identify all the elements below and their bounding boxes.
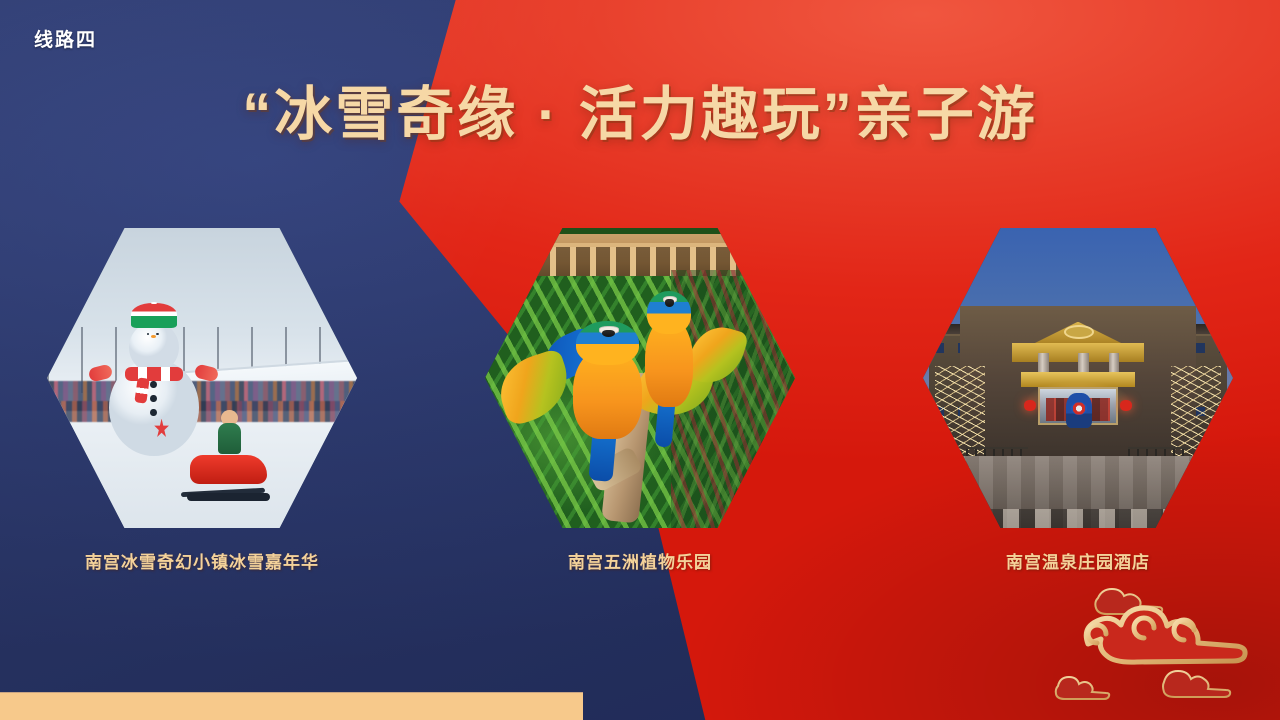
inflatable-snowman bbox=[109, 300, 199, 456]
snowman-eye bbox=[156, 333, 159, 335]
attraction-caption: 南宫冰雪奇幻小镇冰雪嘉年华 bbox=[85, 548, 319, 573]
snowmobile-body bbox=[190, 455, 267, 484]
paved-plaza bbox=[923, 456, 1233, 528]
attraction-card[interactable]: 南宫温泉庄园酒店 bbox=[923, 228, 1233, 573]
snowmobile bbox=[187, 438, 271, 504]
attraction-caption: 南宫温泉庄园酒店 bbox=[1006, 548, 1150, 573]
macaw-beak bbox=[602, 330, 614, 338]
bottom-accent-bar bbox=[0, 692, 583, 720]
hotel-main-block bbox=[960, 306, 1196, 462]
attraction-caption: 南宫五洲植物乐园 bbox=[568, 548, 712, 573]
macaw-right bbox=[615, 288, 720, 423]
snowman-hat bbox=[131, 303, 178, 328]
entrance-mascot bbox=[1066, 393, 1092, 427]
snowman-scarf bbox=[125, 367, 183, 381]
macaw-beak bbox=[665, 299, 674, 306]
snow-carnival-scene bbox=[47, 228, 357, 528]
rider-body bbox=[218, 423, 241, 453]
route-tag: 线路四 bbox=[34, 31, 97, 50]
red-lantern bbox=[1024, 400, 1036, 411]
snowmobile-track bbox=[187, 493, 271, 502]
snowman-head bbox=[129, 322, 179, 373]
snowman-pompom bbox=[151, 302, 157, 304]
macaw-head bbox=[647, 291, 691, 334]
snowman-eye bbox=[147, 333, 150, 335]
attraction-card-row: 南宫冰雪奇幻小镇冰雪嘉年华 bbox=[0, 228, 1280, 568]
crowd-near bbox=[47, 401, 357, 422]
slide-canvas: 线路四 “冰雪奇缘 · 活力趣玩”亲子游 bbox=[0, 0, 1280, 720]
hotel-facade-scene bbox=[923, 228, 1233, 528]
snowman-button bbox=[150, 395, 156, 402]
attraction-card[interactable]: 南宫五洲植物乐园 bbox=[485, 228, 795, 573]
hotel-sign-plaque bbox=[1064, 325, 1095, 339]
macaw-garden-photo[interactable] bbox=[485, 228, 795, 528]
macaw-garden-scene bbox=[485, 228, 795, 528]
snow-carnival-photo[interactable] bbox=[47, 228, 357, 528]
red-lantern bbox=[1120, 400, 1132, 411]
snowman-nose bbox=[151, 335, 156, 338]
attraction-card[interactable]: 南宫冰雪奇幻小镇冰雪嘉年华 bbox=[47, 228, 357, 573]
snowman-button bbox=[150, 409, 156, 416]
page-title: “冰雪奇缘 · 活力趣玩”亲子游 bbox=[0, 84, 1280, 147]
snowman-button bbox=[150, 381, 156, 388]
hotel-facade-photo[interactable] bbox=[923, 228, 1233, 528]
